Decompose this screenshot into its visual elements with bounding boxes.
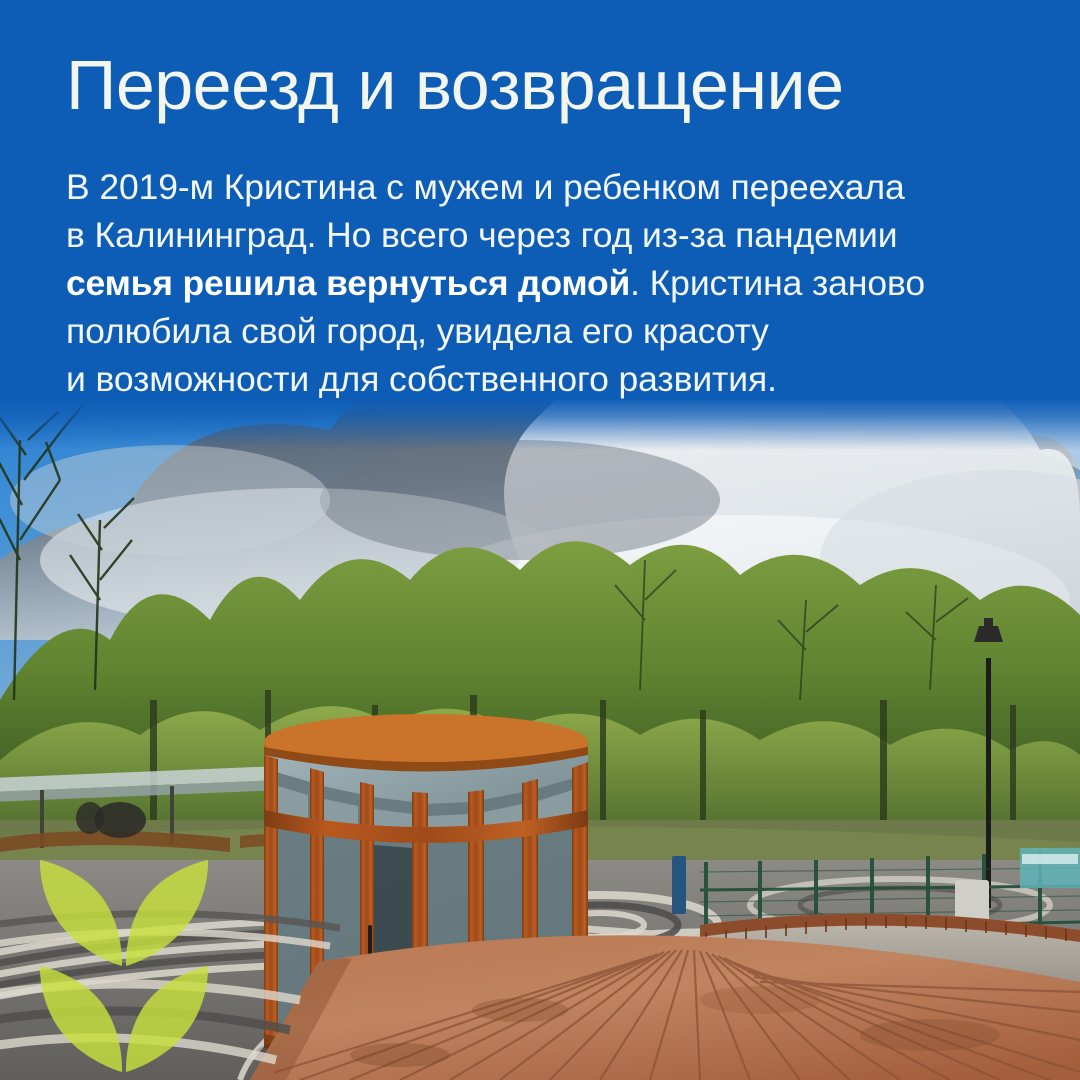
body-line-4: полюбила свой город, увидела его красоту [66,307,996,355]
info-board [672,856,686,914]
sprout-leaves-logo [26,838,222,1074]
social-post-card: Переезд и возвращение В 2019-м Кристина … [0,0,1080,1080]
body-line-3: семья решила вернуться домой. Кристина з… [66,259,996,307]
body-line-3-rest: . Кристина заново [630,263,925,303]
leaf-upper-left [40,860,122,966]
logo-mark [26,838,222,1074]
leaf-lower-left [40,966,122,1072]
leaf-upper-right [126,860,208,966]
text-block: Переезд и возвращение В 2019-м Кристина … [0,0,1080,400]
body-paragraph: В 2019-м Кристина с мужем и ребенком пер… [66,163,996,403]
body-line-5: и возможности для собственного развития. [66,355,996,403]
body-line-1: В 2019-м Кристина с мужем и ребенком пер… [66,163,996,211]
body-line-3-bold: семья решила вернуться домой [66,263,630,303]
body-line-2: в Калининград. Но всего через год из-за … [66,211,996,259]
page-title: Переезд и возвращение [66,48,844,122]
leaf-lower-right [126,966,208,1072]
